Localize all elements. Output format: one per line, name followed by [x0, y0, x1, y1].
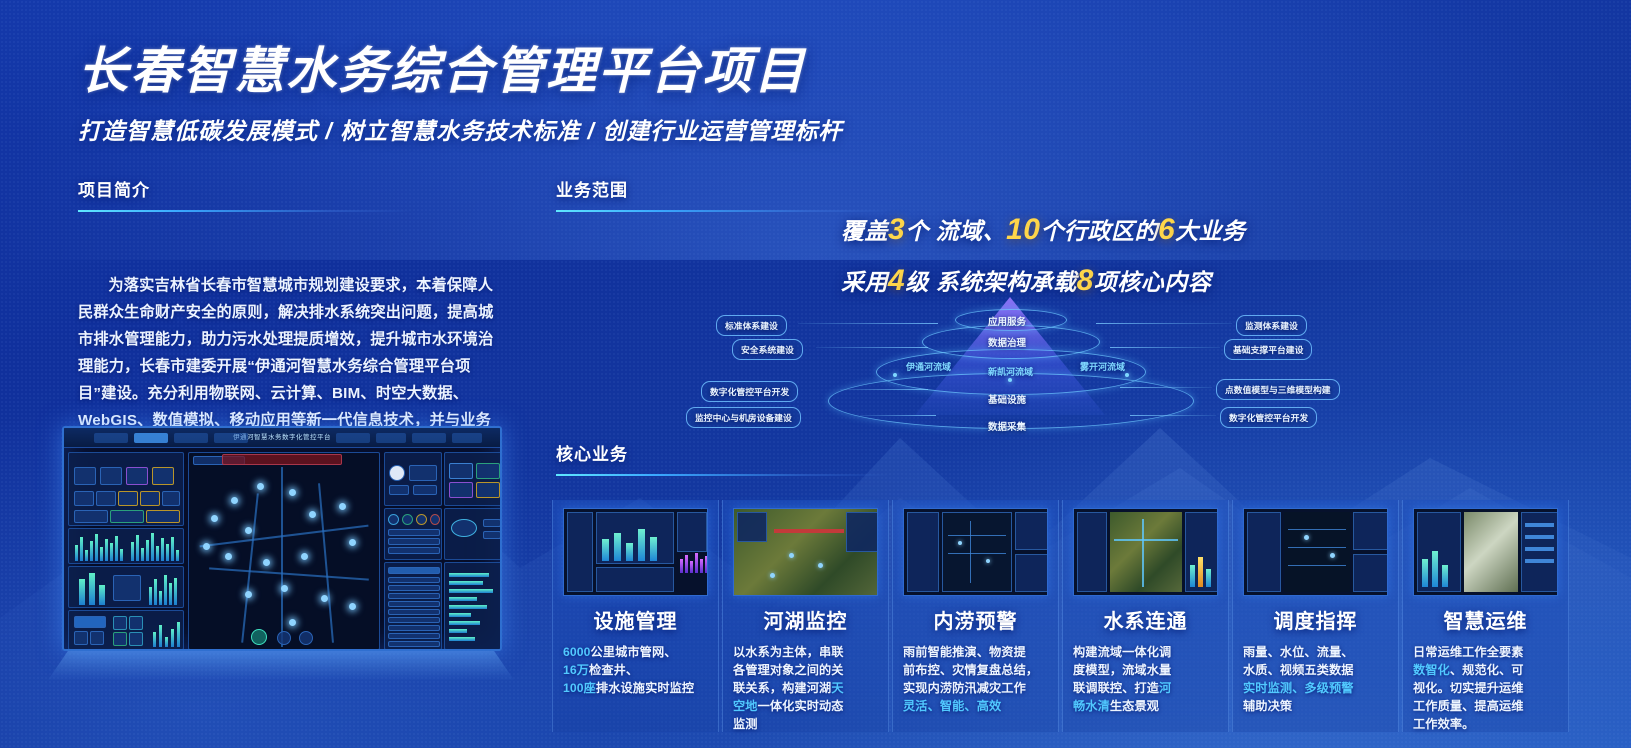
scope-line-2: 采用4级 系统架构承载8项核心内容: [841, 263, 1261, 298]
scope-l2-num1: 4: [888, 264, 905, 297]
dashboard-tab[interactable]: [214, 433, 248, 443]
dashboard-panel: [68, 452, 184, 526]
body-text: 排水设施实时监控: [596, 681, 694, 695]
scope-l1-suffix: 大业务: [1175, 218, 1246, 244]
basin-label-yitong: 伊通河流域: [906, 360, 951, 373]
dashboard-tab[interactable]: [452, 433, 482, 443]
business-card[interactable]: 水系连通构建流域一体化调度模型，流域水量联调联控、打造河畅水清生态景观: [1062, 500, 1229, 732]
pill-security-system[interactable]: 安全系统建设: [732, 339, 803, 360]
scope-headline: 覆盖3个 流域、10个行政区的6大业务 采用4级 系统架构承载8项核心内容: [841, 212, 1261, 298]
body-text: 雨前智能推演、物资提: [903, 645, 1026, 659]
body-text: 雨量、水位、流量、: [1243, 645, 1354, 659]
scope-l1-num2: 10: [1006, 213, 1040, 246]
dashboard-tab[interactable]: [412, 433, 446, 443]
dashboard-ranking: [444, 562, 502, 650]
highlight-text: 数智化: [1413, 663, 1450, 677]
scope-l1-num3: 6: [1158, 213, 1175, 246]
business-card-title: 水系连通: [1073, 605, 1218, 634]
dashboard-table: [384, 562, 442, 650]
business-card-thumbnail: [1413, 508, 1558, 596]
scope-heading: 业务范围: [556, 176, 1316, 201]
basin-label-xinkai: 新凯河流域: [988, 365, 1033, 378]
business-card-thumbnail: [733, 508, 878, 596]
core-business-section: 核心业务: [556, 440, 891, 476]
dashboard-screen: 伊通河智慧水务数字化管控平台: [62, 426, 502, 651]
business-card-description: 日常运维工作全要素数智化、规范化、可视化。切实提升运维工作质量、提高运维工作效率…: [1413, 643, 1558, 733]
business-card[interactable]: 河湖监控以水系为主体，串联各管理对象之间的关联关系，构建河湖天空地一体化实时动态…: [722, 500, 889, 732]
pill-digital-platform-right[interactable]: 数字化管控平台开发: [1220, 407, 1317, 428]
scope-l2-prefix: 采用: [841, 269, 888, 295]
body-text: 视化: [1413, 681, 1438, 695]
pill-support-platform[interactable]: 基础支撑平台建设: [1224, 339, 1312, 360]
business-card-description: 雨量、水位、流量、水质、视频五类数据实时监测、多级预警辅助决策: [1243, 643, 1388, 715]
dashboard-stand: [48, 646, 514, 680]
highlight-text: 空地: [733, 699, 758, 713]
architecture-diagram: 应用服务 数据治理 基础设施 数据采集 伊通河流域 新凯河流域 雾开河流域 标准…: [700, 295, 1480, 440]
body-text: 实现内涝防汛减灾工作: [903, 681, 1026, 695]
body-text: 。切实提升运维: [1438, 681, 1524, 695]
business-card-thumbnail: [563, 508, 708, 596]
dashboard-panel: [68, 566, 184, 608]
dashboard-alert-banner: [222, 454, 342, 465]
body-text: 联关系，构建河湖: [733, 681, 831, 695]
core-divider: [556, 474, 891, 476]
dashboard-map[interactable]: [188, 452, 380, 650]
body-text: 公里城市管网、: [591, 645, 677, 659]
body-text: 检查井、: [589, 663, 638, 677]
pill-digital-platform-left[interactable]: 数字化管控平台开发: [701, 381, 798, 402]
business-card[interactable]: 设施管理6000公里城市管网、16万检查井、100座排水设施实时监控: [552, 500, 719, 732]
basin-label-wukai: 雾开河流域: [1080, 360, 1125, 373]
dashboard-tab[interactable]: [336, 433, 370, 443]
dashboard-panel: [444, 452, 502, 506]
scope-l1-mid1: 个 流域、: [905, 218, 1006, 244]
page-header: 长春智慧水务综合管理平台项目 打造智慧低碳发展模式 / 树立智慧水务技术标准 /…: [78, 44, 842, 146]
body-text: 生态景观: [1110, 699, 1159, 713]
business-card-thumbnail: [1243, 508, 1388, 596]
pill-monitoring-system[interactable]: 监测体系建设: [1236, 315, 1307, 336]
page-subtitle: 打造智慧低碳发展模式 / 树立智慧水务技术标准 / 创建行业运营管理标杆: [78, 112, 842, 146]
body-text: 度模型，流域水量: [1073, 663, 1171, 677]
dashboard-panel: [384, 452, 442, 506]
dashboard-tab[interactable]: [376, 433, 406, 443]
business-card-title: 河湖监控: [733, 605, 878, 634]
business-card-thumbnail: [903, 508, 1048, 596]
highlight-text: 实时监测、多级预警: [1243, 681, 1354, 695]
body-text: 日常运维工作全要素: [1413, 645, 1524, 659]
business-card-description: 雨前智能推演、物资提前布控、灾情复盘总结，实现内涝防汛减灾工作灵活、智能、高效: [903, 643, 1048, 715]
body-text: 构建流域一体化调: [1073, 645, 1171, 659]
business-card[interactable]: 智慧运维日常运维工作全要素数智化、规范化、可视化。切实提升运维工作质量、提高运维…: [1402, 500, 1569, 732]
pill-monitoring-center[interactable]: 监控中心与机房设备建设: [686, 407, 801, 428]
business-card-thumbnail: [1073, 508, 1218, 596]
business-card-description: 以水系为主体，串联各管理对象之间的关联关系，构建河湖天空地一体化实时动态监测: [733, 643, 878, 733]
dashboard-panel: [68, 610, 184, 650]
dashboard-preview[interactable]: 伊通河智慧水务数字化管控平台: [48, 418, 514, 680]
body-text: 水质、视频五类数据: [1243, 663, 1354, 677]
highlight-text: 畅水清: [1073, 699, 1110, 713]
pill-standard-system[interactable]: 标准体系建设: [716, 315, 787, 336]
dashboard-tab[interactable]: [94, 433, 128, 443]
core-heading: 核心业务: [556, 440, 891, 465]
highlight-text: 16万: [563, 663, 589, 677]
body-text: 工作效率。: [1413, 717, 1474, 731]
scope-l1-prefix: 覆盖: [841, 218, 888, 244]
pill-numeric-3d-model[interactable]: 点数值模型与三维模型构建: [1216, 379, 1340, 400]
body-text: 前布控、灾情复盘总结，: [903, 663, 1038, 677]
business-card-title: 设施管理: [563, 605, 708, 634]
body-text: 工作质量、提高运维: [1413, 699, 1524, 713]
business-card-description: 构建流域一体化调度模型，流域水量联调联控、打造河畅水清生态景观: [1073, 643, 1218, 715]
layer-label-data-governance: 数据治理: [988, 335, 1026, 349]
dashboard-panel: [444, 508, 502, 560]
body-text: 、规范化、可: [1450, 663, 1524, 677]
layer-label-data-collection: 数据采集: [988, 419, 1026, 433]
dashboard-tab[interactable]: [174, 433, 208, 443]
dashboard-chart: [68, 528, 184, 564]
highlight-text: 6000: [563, 645, 591, 659]
business-card[interactable]: 内涝预警雨前智能推演、物资提前布控、灾情复盘总结，实现内涝防汛减灾工作灵活、智能…: [892, 500, 1059, 732]
highlight-text: 灵活、智能、高效: [903, 699, 1001, 713]
scope-l2-mid1: 级 系统架构承载: [905, 269, 1076, 295]
body-text: 联调联控、打造: [1073, 681, 1159, 695]
layer-label-application: 应用服务: [988, 314, 1026, 328]
scope-l2-num2: 8: [1077, 264, 1094, 297]
scope-l1-mid2: 个行政区的: [1040, 218, 1158, 244]
body-text: 辅助决策: [1243, 699, 1292, 713]
body-text: 监测: [733, 717, 758, 731]
business-card-description: 6000公里城市管网、16万检查井、100座排水设施实时监控: [563, 643, 708, 697]
scope-l2-suffix: 项核心内容: [1094, 269, 1212, 295]
intro-heading: 项目简介: [78, 176, 498, 201]
business-card-title: 智慧运维: [1413, 605, 1558, 634]
intro-divider: [78, 210, 413, 212]
dashboard-tab[interactable]: [134, 433, 168, 443]
business-card-title: 调度指挥: [1243, 605, 1388, 634]
body-text: 各管理对象之间的关: [733, 663, 844, 677]
scope-line-1: 覆盖3个 流域、10个行政区的6大业务: [841, 212, 1261, 247]
business-scope-section: 业务范围 覆盖3个 流域、10个行政区的6大业务 采用4级 系统架构承载8项核心…: [556, 176, 1316, 212]
body-text: 一体化实时动态: [758, 699, 844, 713]
body-text: 以水系为主体，串联: [733, 645, 844, 659]
scope-l1-num1: 3: [888, 213, 905, 246]
highlight-text: 河: [1159, 681, 1171, 695]
highlight-text: 100座: [563, 681, 596, 695]
business-card-title: 内涝预警: [903, 605, 1048, 634]
core-business-cards: 设施管理6000公里城市管网、16万检查井、100座排水设施实时监控 河湖监控以…: [552, 500, 1569, 732]
page-title: 长春智慧水务综合管理平台项目: [78, 44, 842, 98]
highlight-text: 天: [831, 681, 843, 695]
dashboard-panel: [384, 508, 442, 560]
business-card[interactable]: 调度指挥雨量、水位、流量、水质、视频五类数据实时监测、多级预警辅助决策: [1232, 500, 1399, 732]
layer-label-infrastructure: 基础设施: [988, 392, 1026, 406]
